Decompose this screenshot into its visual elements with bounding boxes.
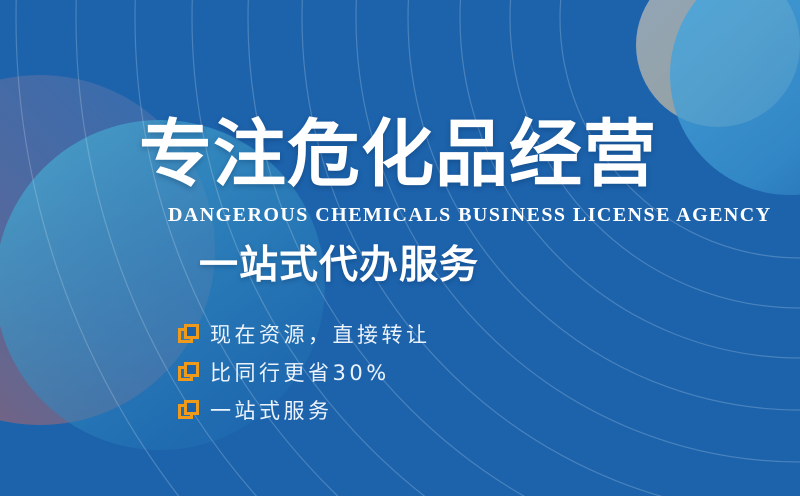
overlapping-squares-icon — [178, 362, 200, 384]
list-item-label: 一站式服务 — [210, 399, 333, 423]
feature-list: 现在资源，直接转让 比同行更省30% 一站式服务 — [178, 316, 431, 430]
overlapping-squares-icon — [178, 324, 200, 346]
banner-content: 专注危化品经营 DANGEROUS CHEMICALS BUSINESS LIC… — [0, 0, 800, 496]
service-subtitle: 一站式代办服务 — [199, 243, 479, 289]
list-item: 现在资源，直接转让 — [178, 316, 431, 354]
overlapping-squares-icon — [178, 400, 200, 422]
page-title: 专注危化品经营 — [139, 112, 657, 198]
list-item-label: 比同行更省30% — [210, 361, 390, 385]
list-item-label: 现在资源，直接转让 — [210, 323, 431, 347]
english-subtitle: DANGEROUS CHEMICALS BUSINESS LICENSE AGE… — [168, 203, 772, 227]
list-item: 比同行更省30% — [178, 354, 431, 392]
list-item: 一站式服务 — [178, 392, 431, 430]
promo-banner: 专注危化品经营 DANGEROUS CHEMICALS BUSINESS LIC… — [0, 0, 800, 496]
